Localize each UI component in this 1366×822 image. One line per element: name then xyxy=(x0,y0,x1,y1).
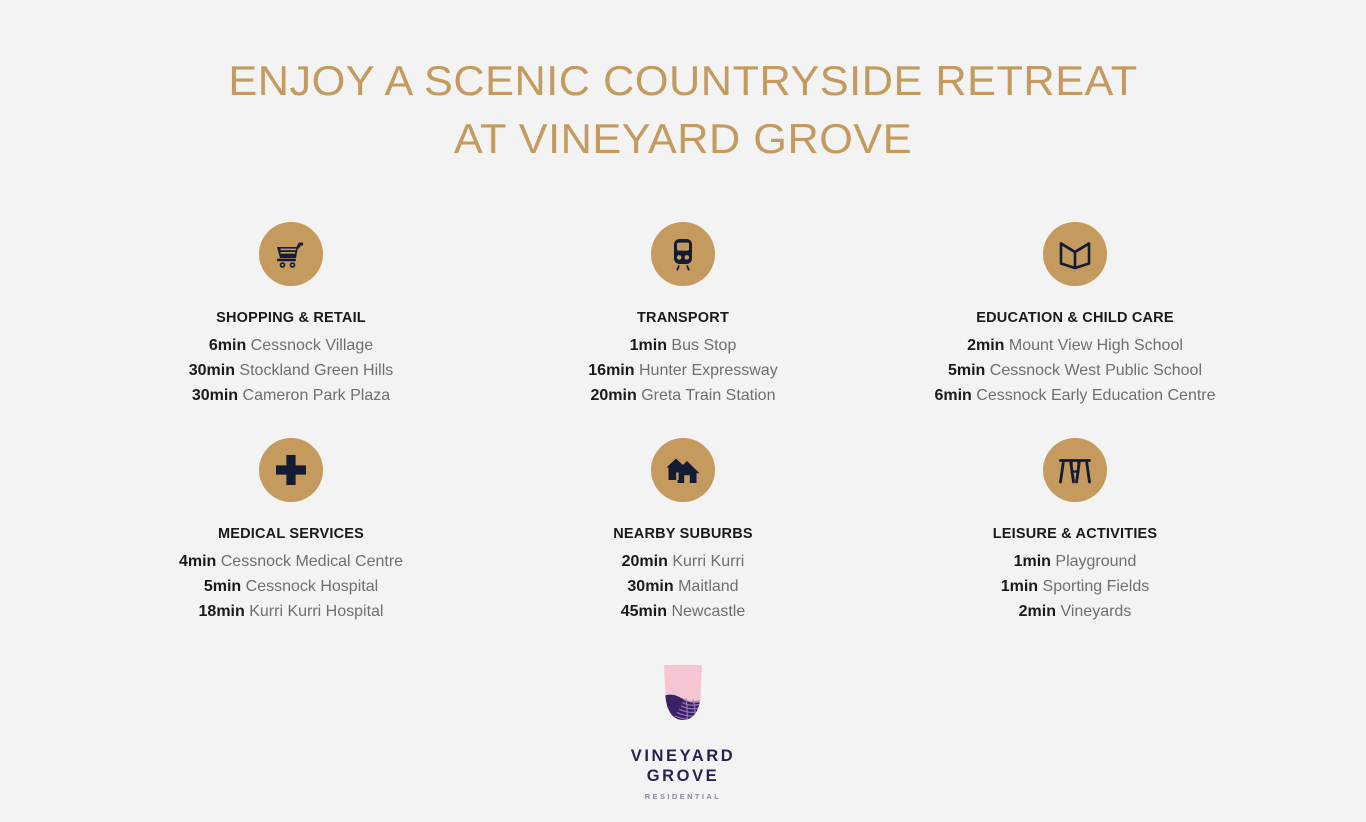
shopping-cart-icon xyxy=(272,235,310,273)
page-title: ENJOY A SCENIC COUNTRYSIDE RETREAT AT VI… xyxy=(0,52,1366,168)
item-time: 20min xyxy=(622,553,668,570)
item-time: 1min xyxy=(630,337,667,354)
item-time: 30min xyxy=(627,578,673,595)
list-item: 20min Greta Train Station xyxy=(588,383,777,408)
open-book-icon xyxy=(1056,235,1094,273)
item-time: 5min xyxy=(948,362,985,379)
item-place: Kurri Kurri xyxy=(672,553,744,570)
category-title: NEARBY SUBURBS xyxy=(613,526,753,542)
icon-badge xyxy=(259,438,323,502)
item-time: 20min xyxy=(590,387,636,404)
list-item: 30min Cameron Park Plaza xyxy=(189,383,394,408)
list-item: 30min Maitland xyxy=(621,574,746,599)
category-shopping-retail: SHOPPING & RETAIL 6min Cessnock Village … xyxy=(95,222,487,438)
list-item: 5min Cessnock Hospital xyxy=(179,574,403,599)
logo-wordmark: VINEYARD GROVE xyxy=(631,746,736,786)
item-place: Stockland Green Hills xyxy=(239,362,393,379)
category-items: 20min Kurri Kurri 30min Maitland 45min N… xyxy=(621,549,746,624)
category-items: 4min Cessnock Medical Centre 5min Cessno… xyxy=(179,549,403,624)
list-item: 20min Kurri Kurri xyxy=(621,549,746,574)
logo-subtitle: RESIDENTIAL xyxy=(645,792,721,801)
brochure-page: ENJOY A SCENIC COUNTRYSIDE RETREAT AT VI… xyxy=(0,0,1366,822)
houses-icon xyxy=(664,451,702,489)
item-place: Kurri Kurri Hospital xyxy=(249,603,383,620)
page-title-line-2: AT VINEYARD GROVE xyxy=(0,110,1366,168)
item-time: 18min xyxy=(199,603,245,620)
list-item: 1min Playground xyxy=(1001,549,1150,574)
item-place: Mount View High School xyxy=(1009,337,1183,354)
category-items: 1min Playground 1min Sporting Fields 2mi… xyxy=(1001,549,1150,624)
page-title-line-1: ENJOY A SCENIC COUNTRYSIDE RETREAT xyxy=(0,52,1366,110)
category-items: 2min Mount View High School 5min Cessnoc… xyxy=(934,333,1215,408)
category-medical-services: MEDICAL SERVICES 4min Cessnock Medical C… xyxy=(95,438,487,654)
item-time: 2min xyxy=(967,337,1004,354)
brand-logo: VINEYARD GROVE RESIDENTIAL xyxy=(0,663,1366,801)
category-title: SHOPPING & RETAIL xyxy=(216,310,366,326)
logo-word-line-1: VINEYARD xyxy=(631,747,736,765)
list-item: 6min Cessnock Early Education Centre xyxy=(934,383,1215,408)
item-place: Newcastle xyxy=(671,603,745,620)
logo-word-line-2: GROVE xyxy=(647,767,720,785)
icon-badge xyxy=(651,438,715,502)
item-place: Cessnock Hospital xyxy=(246,578,379,595)
item-time: 30min xyxy=(189,362,235,379)
list-item: 1min Sporting Fields xyxy=(1001,574,1150,599)
item-time: 16min xyxy=(588,362,634,379)
category-grid: SHOPPING & RETAIL 6min Cessnock Village … xyxy=(95,222,1271,654)
list-item: 4min Cessnock Medical Centre xyxy=(179,549,403,574)
list-item: 30min Stockland Green Hills xyxy=(189,358,394,383)
list-item: 45min Newcastle xyxy=(621,599,746,624)
item-place: Cessnock Village xyxy=(251,337,373,354)
item-time: 30min xyxy=(192,387,238,404)
item-time: 1min xyxy=(1014,553,1051,570)
item-place: Bus Stop xyxy=(671,337,736,354)
item-place: Vineyards xyxy=(1060,603,1131,620)
item-place: Hunter Expressway xyxy=(639,362,778,379)
item-place: Maitland xyxy=(678,578,738,595)
category-title: TRANSPORT xyxy=(637,310,729,326)
item-place: Cameron Park Plaza xyxy=(243,387,391,404)
list-item: 16min Hunter Expressway xyxy=(588,358,777,383)
category-transport: TRANSPORT 1min Bus Stop 16min Hunter Exp… xyxy=(487,222,879,438)
item-time: 2min xyxy=(1019,603,1056,620)
category-leisure-activities: LEISURE & ACTIVITIES 1min Playground 1mi… xyxy=(879,438,1271,654)
category-title: MEDICAL SERVICES xyxy=(218,526,364,542)
list-item: 2min Mount View High School xyxy=(934,333,1215,358)
category-title: LEISURE & ACTIVITIES xyxy=(993,526,1158,542)
item-place: Playground xyxy=(1055,553,1136,570)
item-time: 5min xyxy=(204,578,241,595)
item-place: Cessnock West Public School xyxy=(990,362,1202,379)
item-place: Cessnock Medical Centre xyxy=(221,553,403,570)
list-item: 1min Bus Stop xyxy=(588,333,777,358)
category-items: 1min Bus Stop 16min Hunter Expressway 20… xyxy=(588,333,777,408)
icon-badge xyxy=(651,222,715,286)
item-time: 6min xyxy=(934,387,971,404)
item-time: 4min xyxy=(179,553,216,570)
swing-set-icon xyxy=(1056,451,1094,489)
item-time: 1min xyxy=(1001,578,1038,595)
list-item: 6min Cessnock Village xyxy=(189,333,394,358)
list-item: 18min Kurri Kurri Hospital xyxy=(179,599,403,624)
list-item: 2min Vineyards xyxy=(1001,599,1150,624)
item-time: 45min xyxy=(621,603,667,620)
wine-glass-vineyard-icon xyxy=(656,663,710,738)
category-title: EDUCATION & CHILD CARE xyxy=(976,310,1173,326)
train-icon xyxy=(664,235,702,273)
icon-badge xyxy=(1043,222,1107,286)
icon-badge xyxy=(259,222,323,286)
list-item: 5min Cessnock West Public School xyxy=(934,358,1215,383)
medical-cross-icon xyxy=(272,451,310,489)
category-items: 6min Cessnock Village 30min Stockland Gr… xyxy=(189,333,394,408)
category-education-child-care: EDUCATION & CHILD CARE 2min Mount View H… xyxy=(879,222,1271,438)
item-time: 6min xyxy=(209,337,246,354)
item-place: Greta Train Station xyxy=(641,387,775,404)
category-nearby-suburbs: NEARBY SUBURBS 20min Kurri Kurri 30min M… xyxy=(487,438,879,654)
item-place: Sporting Fields xyxy=(1043,578,1150,595)
item-place: Cessnock Early Education Centre xyxy=(976,387,1215,404)
icon-badge xyxy=(1043,438,1107,502)
